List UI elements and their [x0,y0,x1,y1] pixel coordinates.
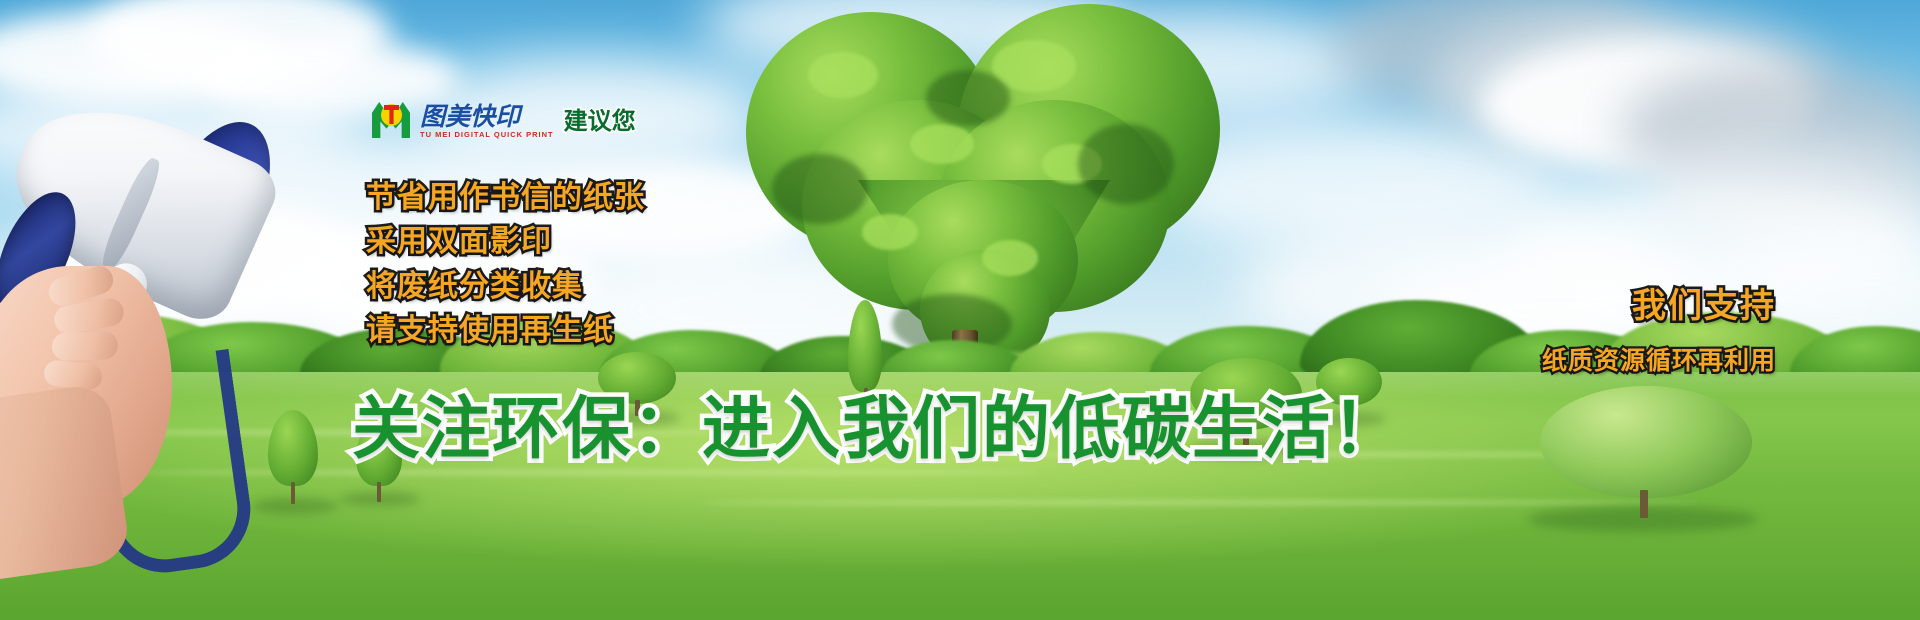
brand-suffix-label: 建议您 [564,101,636,136]
environmental-banner: 图美快印 TU MEI DIGITAL QUICK PRINT 建议您 节省用作… [0,0,1920,620]
brand-name-en: TU MEI DIGITAL QUICK PRINT [420,131,554,139]
brand-name-cn: 图美快印 [420,104,554,129]
support-title: 我们支持 [1176,278,1776,327]
small-tree [1540,386,1752,516]
list-item: 节省用作书信的纸张 [366,182,645,214]
list-item: 采用双面影印 [366,226,645,258]
support-subtitle: 纸质资源循环再利用 [1176,341,1776,377]
megaphone-icon [0,110,290,470]
brand-logo: 图美快印 TU MEI DIGITAL QUICK PRINT 建议您 [372,98,636,138]
list-item: 将废纸分类收集 [366,271,645,303]
tumei-m-logo-icon [372,98,410,138]
finger [52,331,119,361]
small-tree [848,300,882,404]
support-statement: 我们支持 纸质资源循环再利用 [1176,278,1776,377]
list-item: 请支持使用再生纸 [366,315,645,347]
eco-tips-list: 节省用作书信的纸张 采用双面影印 将废纸分类收集 请支持使用再生纸 [366,182,645,348]
page-title: 关注环保：进入我们的低碳生活！ [352,396,1402,464]
brand-text: 图美快印 TU MEI DIGITAL QUICK PRINT [420,104,554,139]
